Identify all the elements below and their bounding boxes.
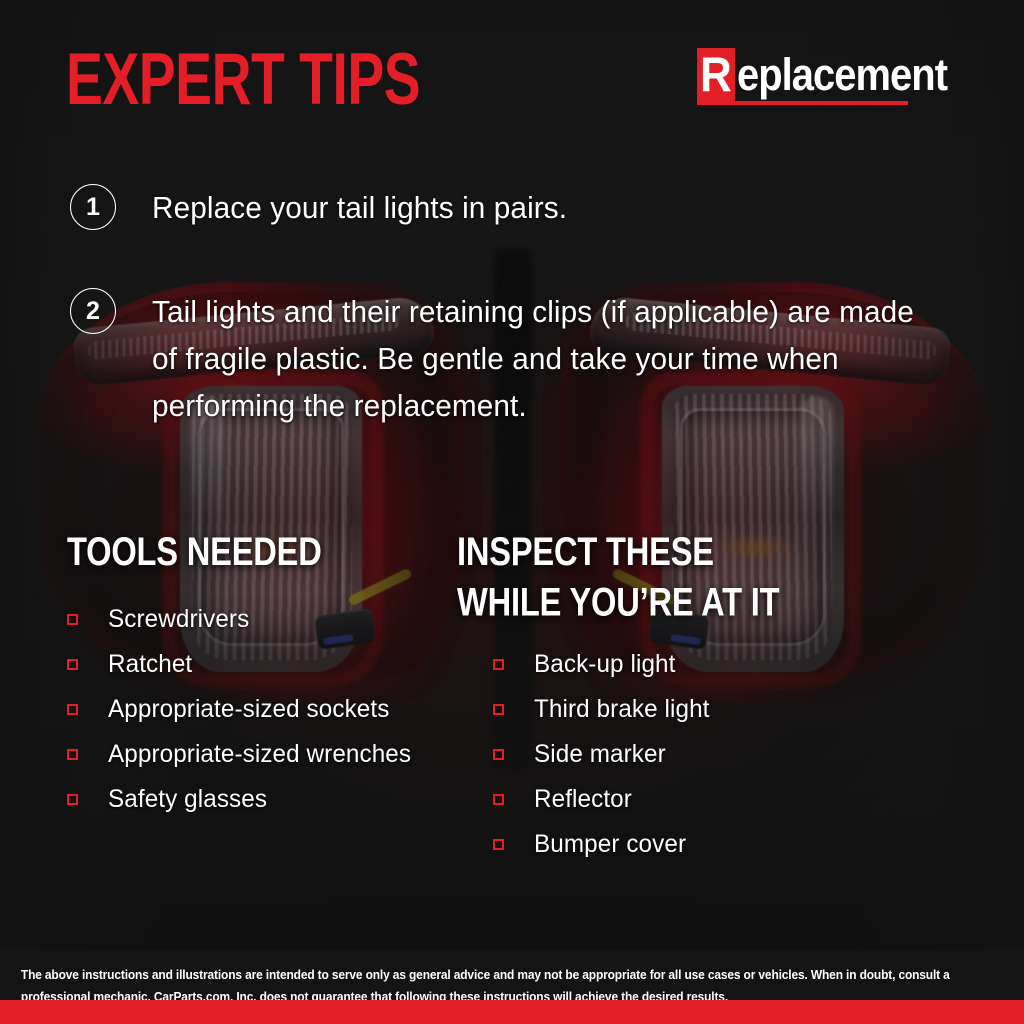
tip-item-1: 1 Replace your tail lights in pairs. [70, 184, 584, 231]
logo-initial: R [697, 48, 735, 104]
list-item-label: Appropriate-sized sockets [108, 695, 389, 724]
list-item-label: Side marker [534, 740, 666, 769]
list-item[interactable]: Ratchet [67, 642, 420, 687]
checkbox-icon[interactable] [67, 659, 78, 670]
checkbox-icon[interactable] [67, 749, 78, 760]
tip-item-2: 2 Tail lights and their retaining clips … [70, 288, 952, 429]
list-item-label: Safety glasses [108, 785, 267, 814]
list-item[interactable]: Appropriate-sized sockets [67, 687, 420, 732]
tip-number-badge: 1 [70, 184, 116, 230]
list-item[interactable]: Reflector [493, 777, 715, 822]
inspect-these-list: Back-up light Third brake light Side mar… [493, 642, 715, 867]
inspect-these-heading: INSPECT THESE WHILE YOU’RE AT IT [457, 527, 822, 628]
bottom-red-bar [0, 1000, 1024, 1024]
checkbox-icon[interactable] [493, 839, 504, 850]
list-item[interactable]: Screwdrivers [67, 597, 420, 642]
list-item[interactable]: Appropriate-sized wrenches [67, 732, 420, 777]
expert-tips-card: EXPERT TIPS R eplacement 1 Replace your … [0, 0, 1024, 1024]
logo-wordmark: R eplacement [697, 48, 958, 98]
list-item-label: Bumper cover [534, 830, 686, 859]
list-item[interactable]: Back-up light [493, 642, 715, 687]
list-item-label: Back-up light [534, 650, 675, 679]
tip-text: Tail lights and their retaining clips (i… [152, 288, 920, 429]
list-item[interactable]: Side marker [493, 732, 715, 777]
checkbox-icon[interactable] [493, 749, 504, 760]
checkbox-icon[interactable] [493, 704, 504, 715]
tip-number-badge: 2 [70, 288, 116, 334]
list-item[interactable]: Third brake light [493, 687, 715, 732]
checkbox-icon[interactable] [67, 704, 78, 715]
card-content: EXPERT TIPS R eplacement 1 Replace your … [0, 0, 1024, 1024]
checkbox-icon[interactable] [493, 659, 504, 670]
tools-needed-heading: TOOLS NEEDED [67, 527, 322, 578]
disclaimer-footer: The above instructions and illustrations… [0, 950, 1024, 1000]
list-item-label: Screwdrivers [108, 605, 249, 634]
list-item[interactable]: Safety glasses [67, 777, 420, 822]
checkbox-icon[interactable] [493, 794, 504, 805]
checkbox-icon[interactable] [67, 794, 78, 805]
page-title: EXPERT TIPS [66, 44, 420, 117]
list-item-label: Third brake light [534, 695, 710, 724]
tools-needed-list: Screwdrivers Ratchet Appropriate-sized s… [67, 597, 420, 822]
list-item-label: Ratchet [108, 650, 192, 679]
list-item-label: Reflector [534, 785, 632, 814]
list-item-label: Appropriate-sized wrenches [108, 740, 411, 769]
list-item[interactable]: Bumper cover [493, 822, 715, 867]
tip-text: Replace your tail lights in pairs. [152, 184, 567, 231]
logo-word: eplacement [737, 48, 947, 102]
replacement-logo: R eplacement [697, 48, 958, 110]
checkbox-icon[interactable] [67, 614, 78, 625]
